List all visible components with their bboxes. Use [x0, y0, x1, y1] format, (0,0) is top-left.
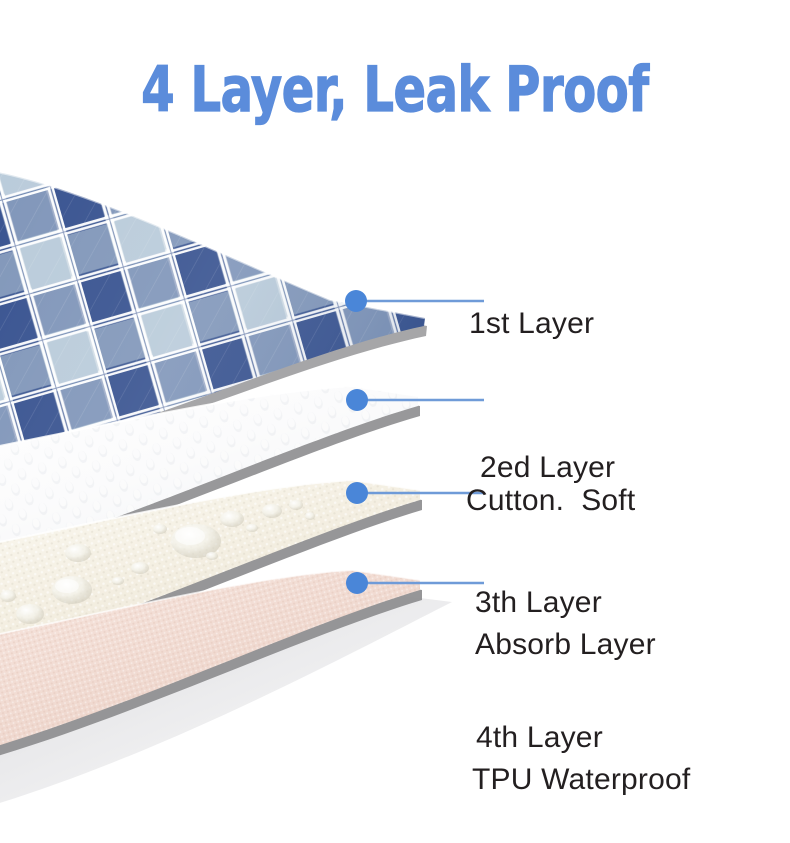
connector-dot-1	[345, 290, 367, 312]
connector-dot-2	[346, 389, 368, 411]
layer-4-label: 4th Layer Anti-slide	[473, 590, 603, 843]
connector-dot-3	[346, 482, 368, 504]
layer-4-title: 4th Layer	[476, 708, 603, 767]
infographic-canvas: 4 Layer, Leak Proof	[0, 0, 790, 843]
connector-dot-4	[346, 572, 368, 594]
